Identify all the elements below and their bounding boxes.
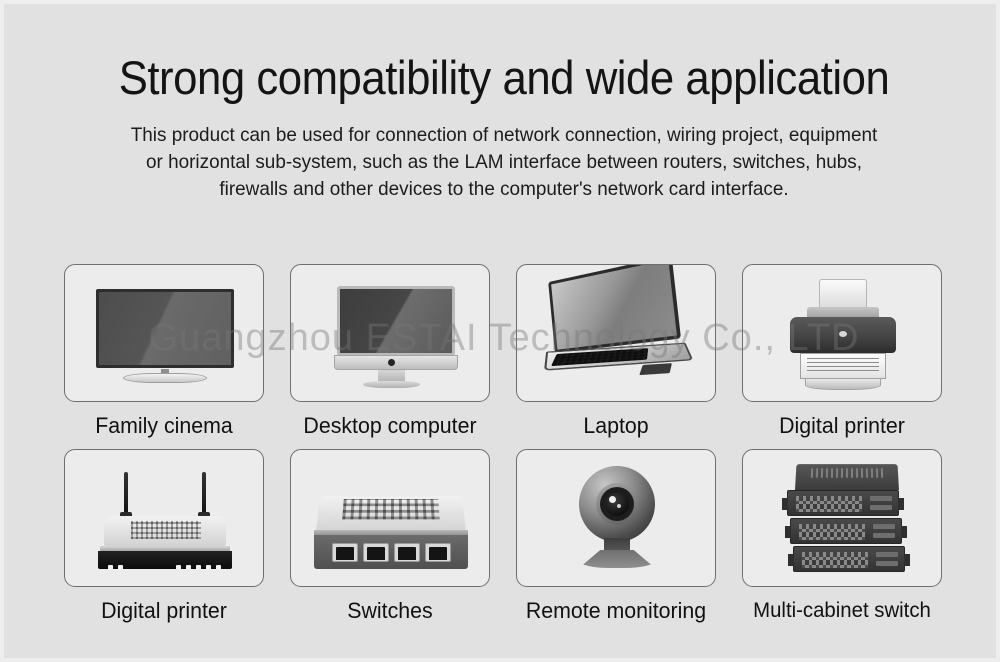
application-item-laptop: Laptop	[516, 264, 716, 441]
desktop-computer-icon	[291, 265, 490, 402]
application-item-multi-cabinet-switch: Multi-cabinet switch	[742, 449, 942, 626]
application-item-family-cinema: Family cinema	[64, 264, 264, 441]
application-label: Laptop	[519, 402, 713, 441]
application-label: Switches	[293, 587, 487, 626]
router-icon	[65, 450, 264, 587]
television-icon	[65, 265, 264, 402]
application-grid: Family cinema Desktop computer	[64, 264, 954, 626]
application-item-digital-printer-top: Digital printer	[742, 264, 942, 441]
printer-icon	[743, 265, 942, 402]
application-item-digital-printer-bottom: Digital printer	[64, 449, 264, 626]
icon-card[interactable]	[516, 264, 716, 402]
icon-card[interactable]	[64, 264, 264, 402]
icon-card[interactable]	[742, 449, 942, 587]
icon-card[interactable]	[290, 264, 490, 402]
icon-card[interactable]	[742, 264, 942, 402]
application-label: Digital printer	[745, 402, 939, 441]
icon-card[interactable]	[290, 449, 490, 587]
application-label: Family cinema	[67, 402, 261, 441]
application-item-remote-monitoring: Remote monitoring	[516, 449, 716, 626]
webcam-icon	[517, 450, 716, 587]
laptop-icon	[517, 265, 716, 402]
page-title: Strong compatibility and wide applicatio…	[39, 4, 969, 104]
icon-card[interactable]	[516, 449, 716, 587]
application-item-desktop-computer: Desktop computer	[290, 264, 490, 441]
rack-switch-stack-icon	[743, 450, 942, 587]
network-switch-icon	[291, 450, 490, 587]
header: Strong compatibility and wide applicatio…	[4, 4, 1000, 203]
icon-card[interactable]	[64, 449, 264, 587]
application-label: Digital printer	[67, 587, 261, 626]
application-label: Multi-cabinet switch	[745, 587, 939, 626]
application-label: Desktop computer	[293, 402, 487, 441]
page-frame: Strong compatibility and wide applicatio…	[0, 0, 1000, 662]
page-subtitle: This product can be used for connection …	[131, 122, 878, 203]
application-label: Remote monitoring	[519, 587, 713, 626]
application-item-switches: Switches	[290, 449, 490, 626]
